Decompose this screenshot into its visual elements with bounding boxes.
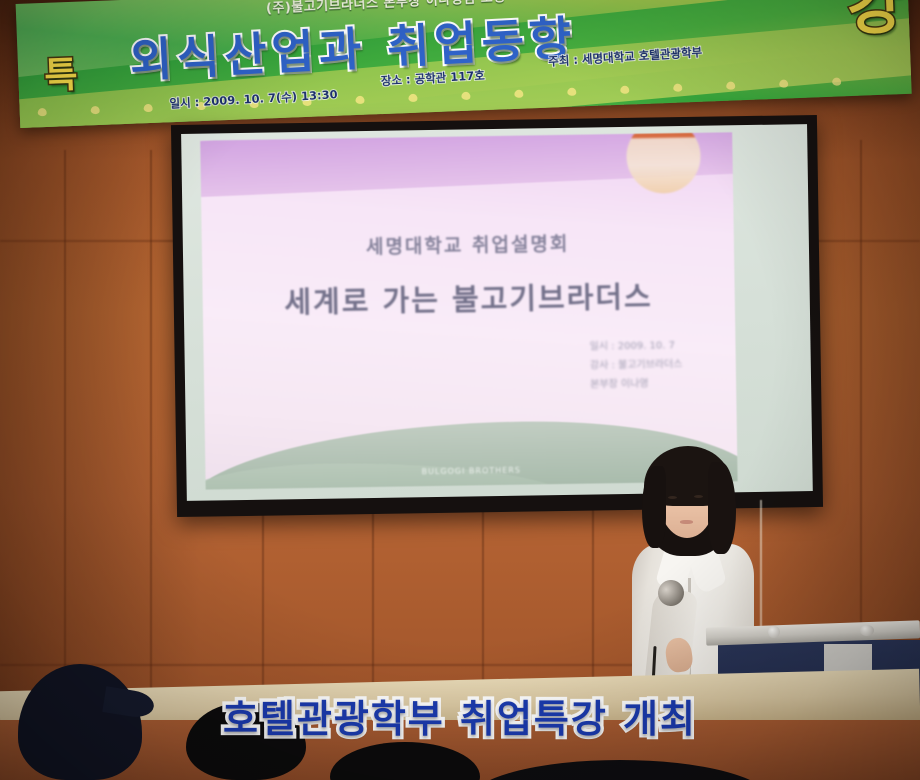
slide-detail-date: 일시 : 2009. 10. 7 [589, 336, 682, 356]
podium-knob [768, 626, 780, 638]
presenter-hair-right [708, 462, 736, 554]
wall-seam [64, 150, 66, 710]
presenter-hair-left [642, 466, 666, 548]
banner-cap-right: 강 [845, 0, 904, 47]
podium-knob-secondary [860, 625, 874, 636]
presenter-eye-right [694, 495, 703, 498]
photo-caption: 호텔관광학부 취업특강 개최 [0, 688, 920, 743]
slide-title: 세계로 가는 불고기브라더스 [202, 272, 735, 322]
presentation-slide: 세명대학교 취업설명회 세계로 가는 불고기브라더스 일시 : 2009. 10… [200, 133, 738, 490]
slide-detail-speaker: 본부장 이나영 [590, 374, 683, 394]
banner-cap-left: 특 [43, 46, 78, 99]
slide-details: 일시 : 2009. 10. 7 강사 : 불고기브라더스 본부장 이나영 [589, 336, 682, 394]
wall-seam [262, 510, 264, 710]
slide-subtitle: 세명대학교 취업설명회 [201, 227, 733, 262]
wall-seam [150, 150, 152, 710]
company-logo-icon [626, 133, 701, 195]
auditorium-photo: (주)불고기브라더스 본부장 이나영님 초청 외식산업과 취업동향 특 강 일시… [0, 0, 920, 780]
wall-seam [372, 510, 374, 710]
presenter-mouth [680, 520, 693, 524]
presenter-eye-left [668, 496, 677, 499]
wall-seam [860, 140, 862, 700]
slide-detail-company: 강사 : 불고기브라더스 [590, 355, 683, 375]
